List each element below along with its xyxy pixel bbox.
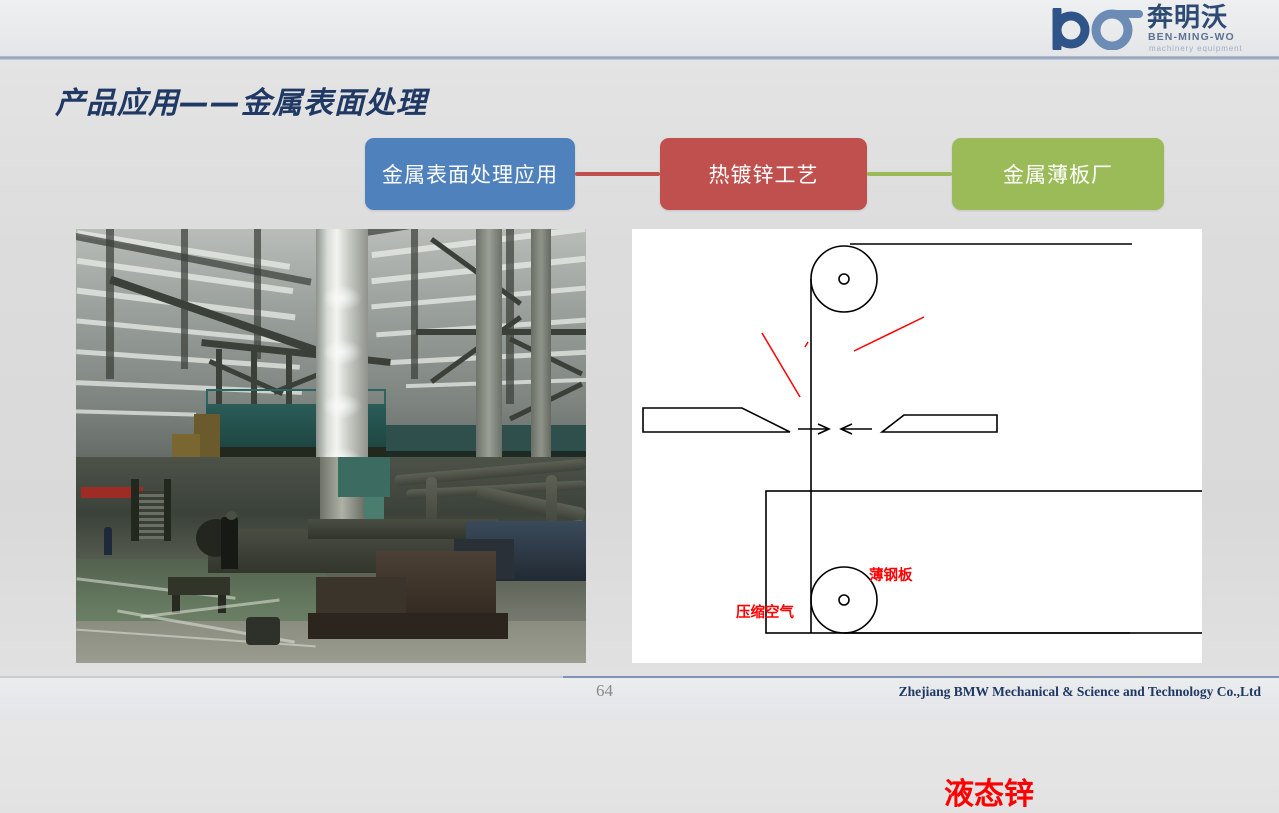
label-liquid-zinc: 液态锌 [944,769,1034,813]
air-knife-nozzle-right [882,415,997,432]
footer-company-name: Zhejiang BMW Mechanical & Science and Te… [899,684,1261,700]
top-roller-hub [839,274,849,284]
photo-staircase [139,491,165,539]
factory-photo [76,229,586,663]
page-title: 产品应用——金属表面处理 [55,78,427,122]
photo-worker [221,517,238,569]
flow-box-sheet-metal-plant[interactable]: 金属薄板厂 [952,138,1164,210]
label-steel-plate: 薄钢板 [869,564,913,585]
company-logo: 奔明沃 BEN-MING-WO machinery equipment [1051,4,1271,54]
galvanizing-process-diagram: 薄钢板 压缩空气 风刀喷嘴 风刀喷嘴 液态锌 [632,229,1202,663]
logo-brand-en: BEN-MING-WO [1148,32,1235,43]
diagram-svg [632,229,1202,663]
zinc-bath-tank [766,491,1202,633]
air-knife-nozzle-left [643,408,790,432]
bottom-roller [811,567,877,633]
flow-box-metal-surface-treatment[interactable]: 金属表面处理应用 [365,138,575,210]
bottom-roller-hub [839,595,849,605]
leader-line-compressed-air [762,333,800,397]
top-roller [811,246,877,312]
flow-box-hot-dip-galvanizing[interactable]: 热镀锌工艺 [660,138,867,210]
logo-tagline: machinery equipment [1149,44,1243,53]
flow-diagram: 金属表面处理应用 热镀锌工艺 金属薄板厂 [0,138,1279,213]
leader-line-steel-plate [854,317,924,351]
header-divider-shadow [0,60,1279,62]
label-compressed-air: 压缩空气 [736,601,794,622]
page-number: 64 [596,681,613,701]
flow-connector-2 [867,172,952,176]
photo-worker [104,527,112,555]
flow-connector-1 [575,172,660,176]
slide-root: 奔明沃 BEN-MING-WO machinery equipment 产品应用… [0,0,1279,720]
bo-monogram-icon [1051,8,1143,50]
logo-brand-cn: 奔明沃 [1147,4,1228,32]
